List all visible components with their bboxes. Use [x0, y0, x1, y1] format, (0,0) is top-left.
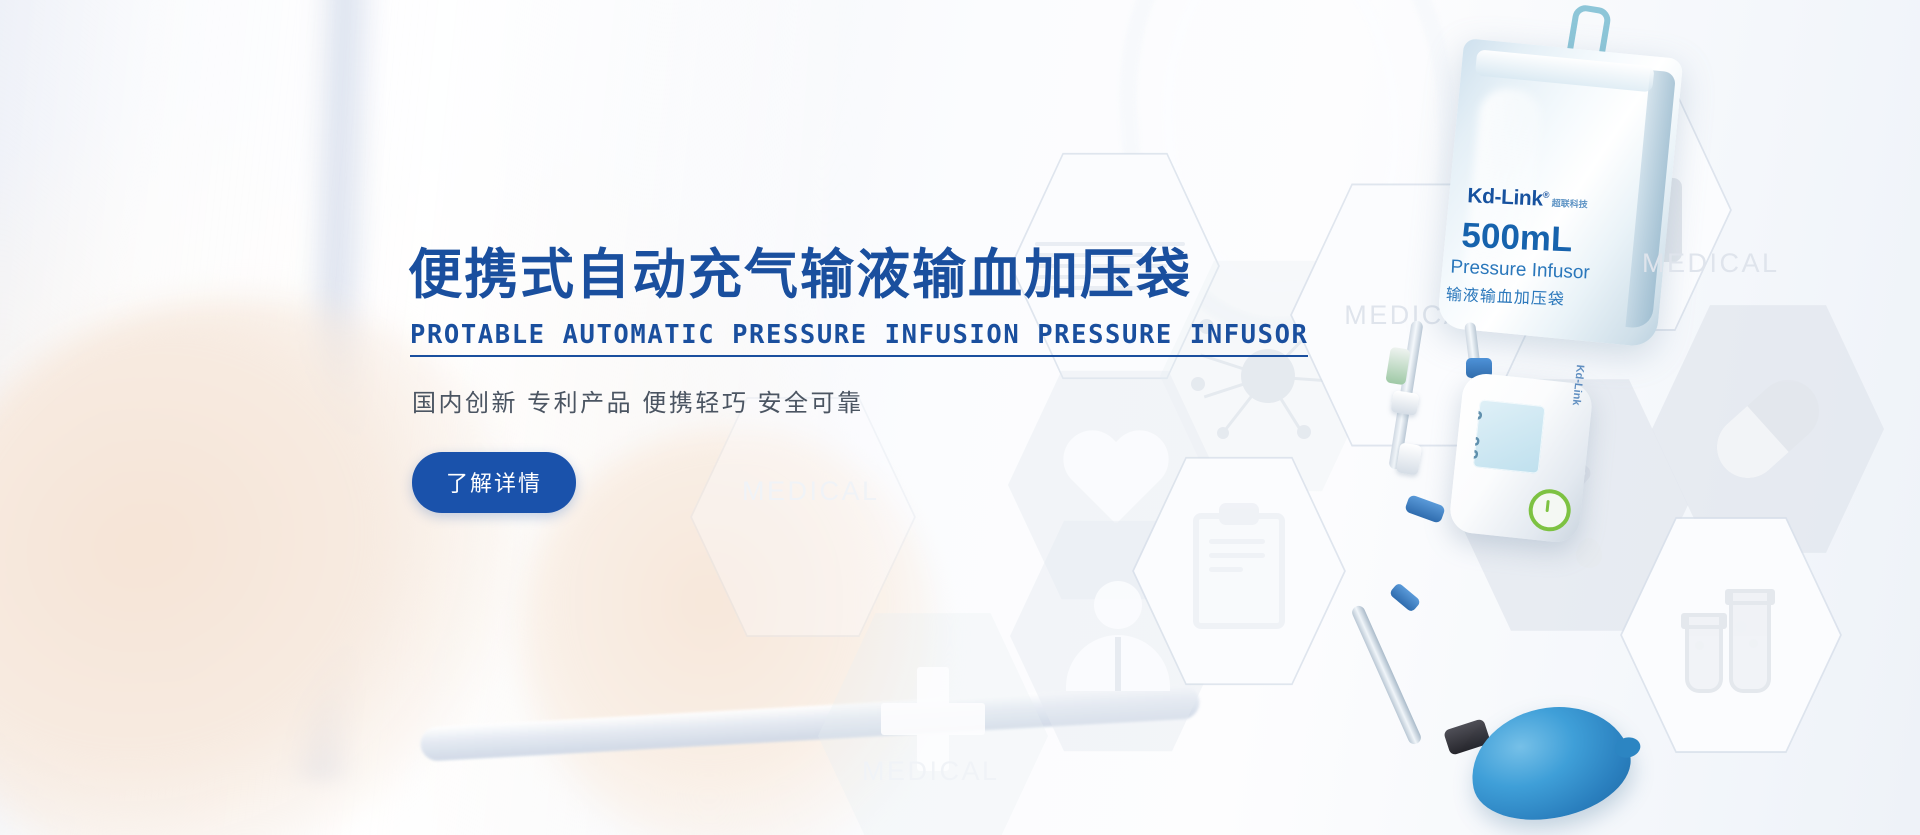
pump-display-value: 0.88: [1473, 408, 1487, 462]
tube-connector-a: [1390, 390, 1419, 416]
hero-copy: 便携式自动充气输液输血加压袋 PROTABLE AUTOMATIC PRESSU…: [408, 246, 1228, 513]
learn-more-button[interactable]: 了解详情: [412, 452, 576, 513]
bag-volume-label: 500mL: [1461, 216, 1574, 261]
hero-tagline: 国内创新 专利产品 便携轻巧 安全可靠: [412, 383, 1228, 418]
pressure-infusion-bag: Kd-Link®超联科技 500mL Pressure Infusor 输液输血…: [1437, 38, 1684, 348]
product-image: Kd-Link®超联科技 500mL Pressure Infusor 输液输血…: [1220, 0, 1920, 835]
tube-connector-b: [1396, 442, 1422, 475]
bag-chinese-name: 输液输血加压袋: [1445, 281, 1565, 310]
page-subtitle: PROTABLE AUTOMATIC PRESSURE INFUSION PRE…: [410, 320, 1308, 357]
power-button[interactable]: [1527, 487, 1573, 533]
tube-clamp-upper: [1404, 494, 1446, 524]
bag-brand-name: Kd-Link: [1467, 184, 1543, 210]
pressure-pump-unit: 0.88 Kd-Link: [1448, 372, 1594, 545]
tube-clamp-lower: [1389, 582, 1422, 613]
hero-banner: MEDICAL MEDICAL: [0, 0, 1920, 835]
pump-display-screen: 0.88: [1473, 399, 1546, 474]
pump-brand-logo: Kd-Link: [1570, 364, 1586, 406]
bag-brand-cn: 超联科技: [1552, 198, 1588, 210]
bulb-tube: [1350, 604, 1423, 746]
bag-brand-mark: ®: [1543, 190, 1550, 200]
page-title: 便携式自动充气输液输血加压袋: [408, 246, 1228, 304]
inflation-bulb: [1460, 693, 1639, 834]
